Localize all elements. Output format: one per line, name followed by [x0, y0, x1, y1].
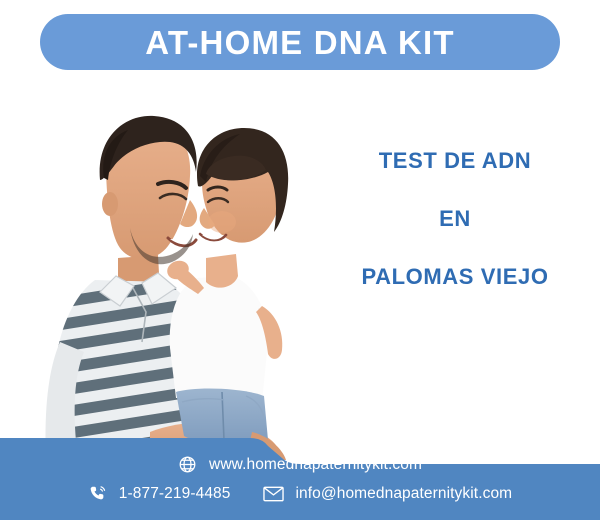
footer-content: www.homednapaternitykit.com 1-877-219-44…	[0, 430, 600, 520]
page-title: AT-HOME DNA KIT	[145, 26, 454, 59]
hero-photo	[0, 80, 330, 460]
phone-icon	[88, 484, 107, 503]
headline-line-1: TEST DE ADN	[320, 150, 590, 172]
footer-bar: www.homednapaternitykit.com 1-877-219-44…	[0, 430, 600, 520]
footer-website-row[interactable]: www.homednapaternitykit.com	[0, 455, 600, 474]
globe-icon	[178, 455, 197, 474]
headline-line-2: EN	[320, 208, 590, 230]
envelope-icon	[263, 486, 284, 502]
website-url-text[interactable]: www.homednapaternitykit.com	[209, 456, 422, 474]
father-and-child-illustration	[0, 80, 330, 460]
headline-block: TEST DE ADN EN PALOMAS VIEJO	[320, 150, 590, 288]
poster-canvas: AT-HOME DNA KIT	[0, 0, 600, 520]
footer-contact-row: 1-877-219-4485 info@homednapaternitykit.…	[0, 484, 600, 503]
header-banner: AT-HOME DNA KIT	[40, 14, 560, 70]
email-address-text[interactable]: info@homednapaternitykit.com	[296, 485, 513, 503]
phone-number-text[interactable]: 1-877-219-4485	[119, 485, 231, 503]
headline-line-3: PALOMAS VIEJO	[320, 266, 590, 288]
